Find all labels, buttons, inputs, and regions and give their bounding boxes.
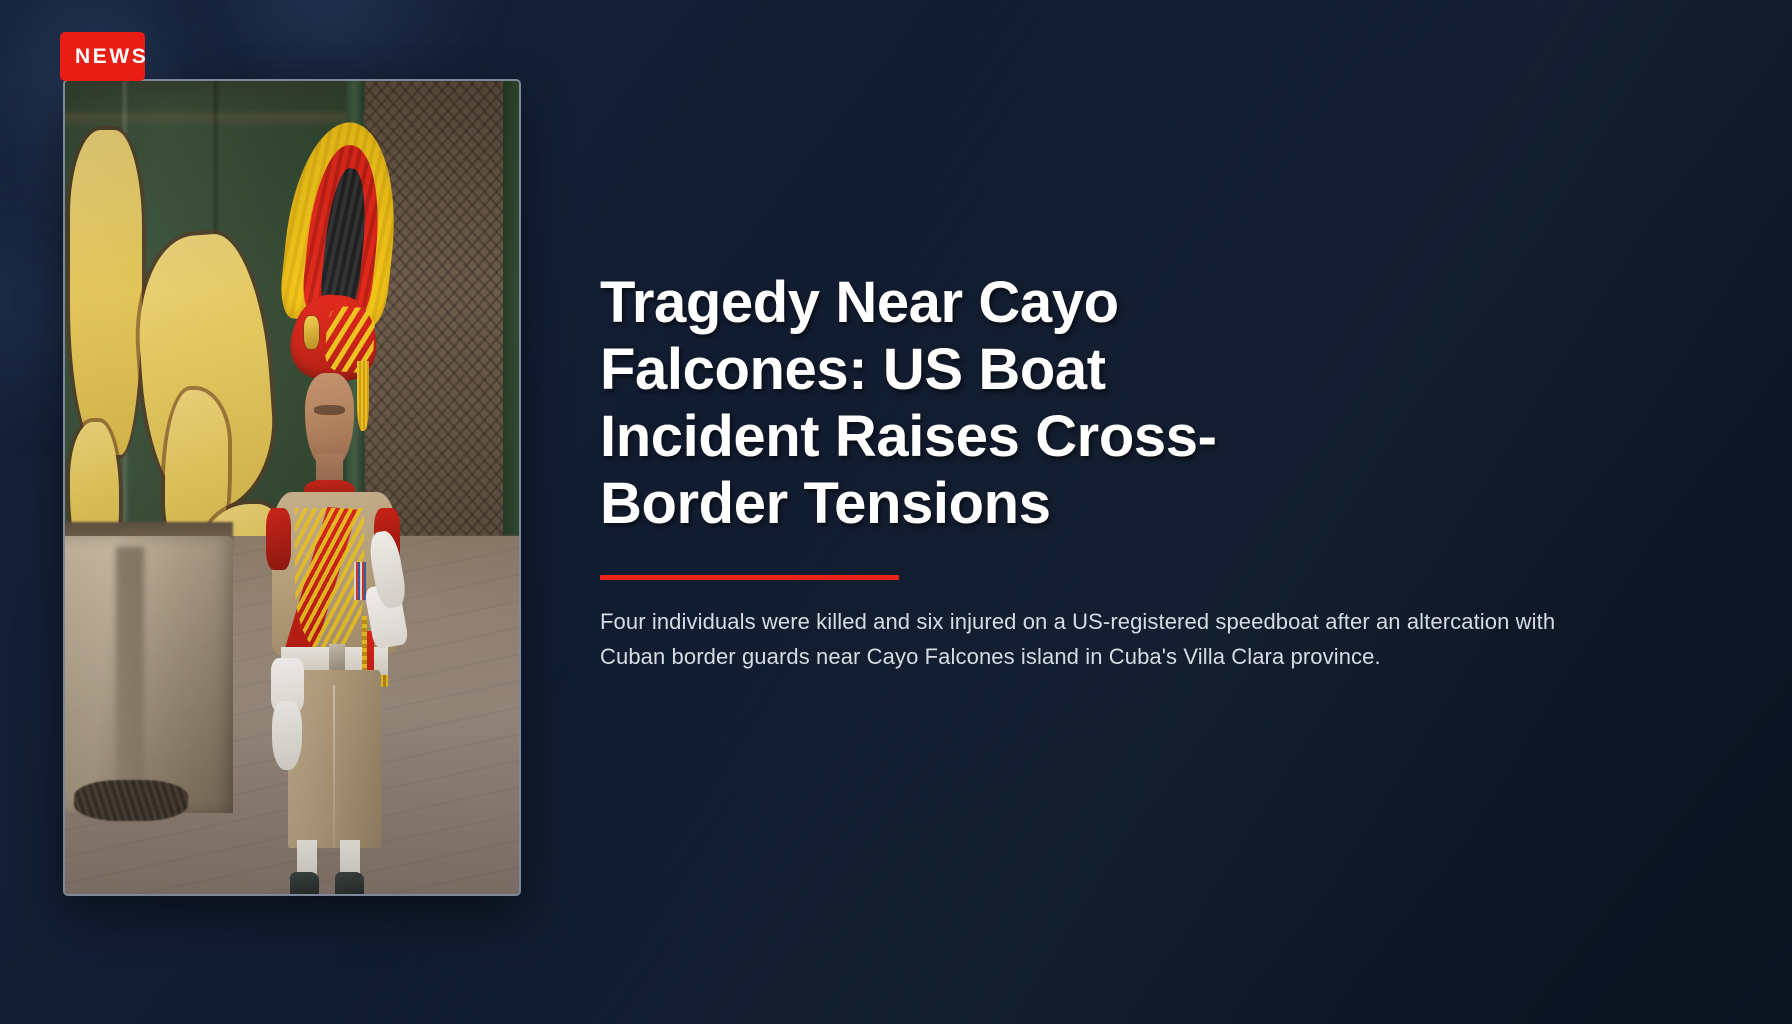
article-headline: Tragedy Near Cayo Falcones: US Boat Inci… bbox=[600, 270, 1240, 538]
medal-ribbon bbox=[354, 562, 366, 601]
trouser-crease bbox=[333, 685, 335, 847]
news-badge: NEWS bbox=[60, 32, 145, 81]
yellow-map-mural bbox=[70, 130, 143, 455]
news-badge-label: NEWS bbox=[60, 46, 145, 67]
white-glove-lowered bbox=[272, 701, 301, 771]
article-content: Tragedy Near Cayo Falcones: US Boat Inci… bbox=[600, 270, 1590, 674]
gate-post bbox=[503, 81, 519, 585]
article-summary: Four individuals were killed and six inj… bbox=[600, 605, 1565, 675]
accent-divider bbox=[600, 575, 899, 580]
news-card-canvas: NEWS Tragedy Near Cayo Falcones: US Boat… bbox=[0, 0, 1792, 1024]
concrete-block bbox=[63, 536, 233, 812]
turban-tassel bbox=[357, 361, 369, 431]
border-guard-soldier bbox=[247, 122, 420, 894]
black-boot bbox=[290, 872, 319, 896]
article-image bbox=[63, 79, 521, 896]
chain-pile bbox=[74, 780, 188, 821]
photo-illustration bbox=[65, 81, 519, 894]
epaulette bbox=[266, 508, 292, 570]
cap-badge bbox=[304, 316, 320, 348]
black-boot bbox=[335, 872, 364, 896]
